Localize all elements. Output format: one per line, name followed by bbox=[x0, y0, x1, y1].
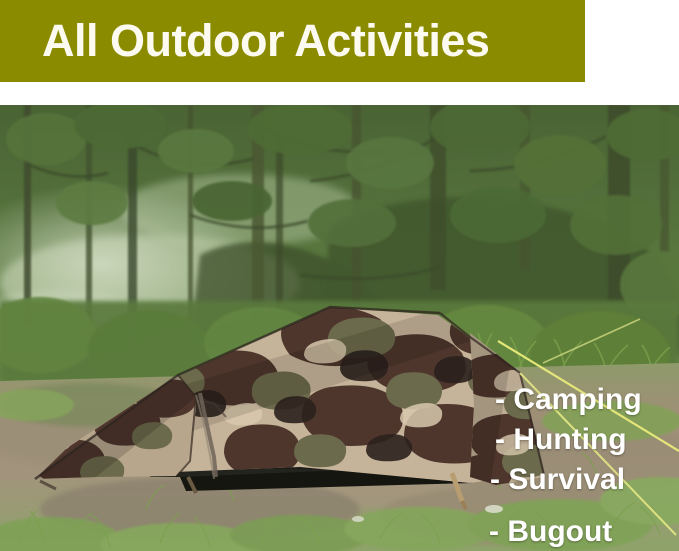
list-item: - Survival bbox=[490, 460, 679, 500]
list-item: - Hunting bbox=[495, 420, 679, 460]
activities-list: - Camping - Hunting - Survival - Bugout bbox=[490, 380, 679, 551]
product-image-card: All Outdoor Activities bbox=[0, 0, 679, 551]
list-item: - Camping bbox=[495, 380, 679, 420]
banner-title: All Outdoor Activities bbox=[42, 13, 489, 69]
list-item: - Bugout bbox=[489, 512, 679, 551]
header-banner: All Outdoor Activities bbox=[0, 0, 585, 82]
